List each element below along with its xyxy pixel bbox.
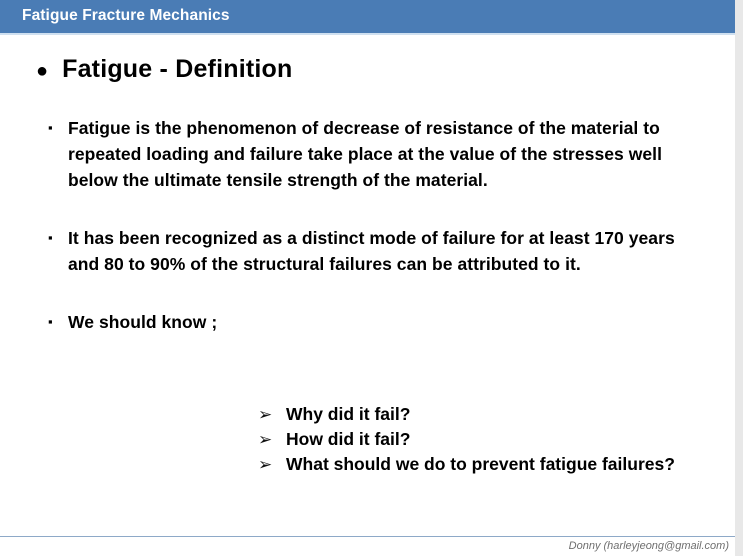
topic-heading: ● Fatigue - Definition	[36, 55, 292, 84]
sub-question-text: What should we do to prevent fatigue fai…	[286, 452, 708, 477]
arrow-bullet-icon: ➢	[258, 427, 286, 452]
slide-header-band: Fatigue Fracture Mechanics	[0, 0, 735, 33]
bullet-item-text: We should know ;	[68, 309, 706, 335]
page-edge-shadow	[735, 0, 743, 556]
footer-author-note: Donny (harleyjeong@gmail.com)	[569, 540, 729, 552]
bullet-item-text: It has been recognized as a distinct mod…	[68, 225, 706, 277]
square-bullet-icon: ▪	[46, 115, 68, 141]
topic-heading-label: Fatigue - Definition	[62, 55, 292, 84]
sub-question-text: How did it fail?	[286, 427, 708, 452]
bullet-list: ▪ Fatigue is the phenomenon of decrease …	[46, 115, 706, 335]
sub-question-list: ➢ Why did it fail? ➢ How did it fail? ➢ …	[258, 402, 708, 477]
square-bullet-icon: ▪	[46, 309, 68, 335]
footer-divider	[0, 536, 735, 537]
sub-question-item: ➢ Why did it fail?	[258, 402, 708, 427]
round-bullet-icon: ●	[36, 61, 48, 81]
sub-question-text: Why did it fail?	[286, 402, 708, 427]
slide-content: ● Fatigue - Definition ▪ Fatigue is the …	[0, 35, 735, 535]
slide-header-title: Fatigue Fracture Mechanics	[22, 7, 230, 25]
slide: Fatigue Fracture Mechanics ● Fatigue - D…	[0, 0, 743, 556]
bullet-item: ▪ It has been recognized as a distinct m…	[46, 225, 706, 277]
bullet-item-text: Fatigue is the phenomenon of decrease of…	[68, 115, 706, 193]
sub-question-item: ➢ What should we do to prevent fatigue f…	[258, 452, 708, 477]
arrow-bullet-icon: ➢	[258, 452, 286, 477]
square-bullet-icon: ▪	[46, 225, 68, 251]
bullet-item: ▪ Fatigue is the phenomenon of decrease …	[46, 115, 706, 193]
bullet-item: ▪ We should know ;	[46, 309, 706, 335]
sub-question-item: ➢ How did it fail?	[258, 427, 708, 452]
arrow-bullet-icon: ➢	[258, 402, 286, 427]
